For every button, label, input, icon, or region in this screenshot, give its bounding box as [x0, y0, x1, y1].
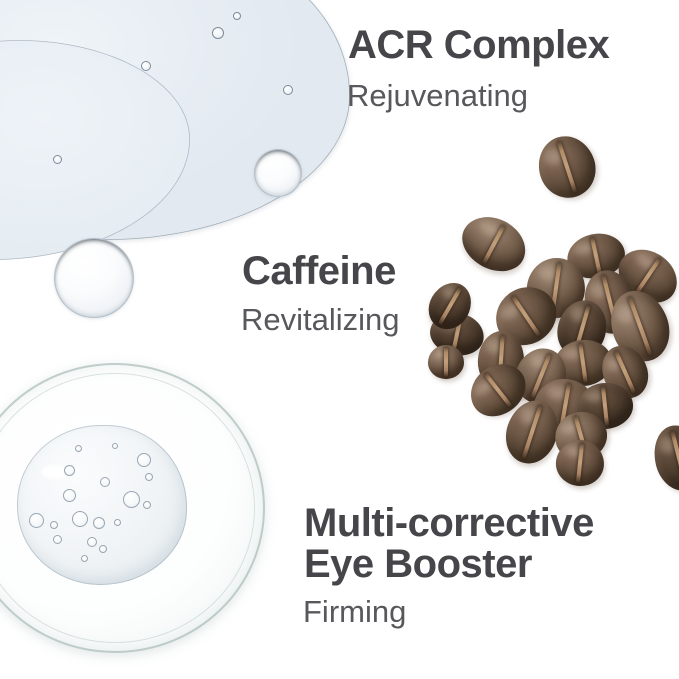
gel-bubble	[100, 477, 110, 487]
bean-crease	[601, 386, 609, 426]
serum-droplet-small	[254, 149, 302, 197]
gel-bubble	[99, 545, 107, 553]
serum-droplet-large	[54, 238, 134, 318]
gel-bubble	[29, 513, 44, 528]
gel-bubble	[143, 501, 151, 509]
gel-bubble	[123, 491, 140, 508]
ingredient-benefit-rejuvenating: Rejuvenating	[347, 80, 528, 113]
gel-highlight	[41, 465, 67, 479]
gel-bubble	[72, 511, 88, 527]
gel-bubble	[145, 473, 153, 481]
gel-bubble	[64, 465, 75, 476]
serum-bubble	[233, 12, 241, 20]
bean-crease	[590, 237, 602, 275]
gel-bubble	[63, 489, 76, 502]
coffee-bean	[648, 420, 679, 496]
ingredient-benefit-revitalizing: Revitalizing	[241, 304, 400, 337]
gel-bubble	[75, 445, 82, 452]
bean-crease	[444, 347, 448, 376]
ingredient-benefit-firming: Firming	[303, 596, 406, 629]
coffee-bean	[453, 206, 535, 281]
serum-bubble	[212, 27, 224, 39]
coffee-bean	[531, 129, 603, 205]
gel-bubble	[50, 521, 58, 529]
serum-bubble	[53, 155, 62, 164]
gel-bubble	[137, 453, 151, 467]
bean-crease	[511, 295, 541, 337]
ingredient-title-eye-booster: Multi-corrective Eye Booster	[304, 503, 594, 585]
serum-bubble	[141, 61, 151, 71]
bean-crease	[578, 343, 587, 383]
clear-gel-blob	[17, 425, 187, 585]
ingredient-title-caffeine: Caffeine	[242, 251, 396, 292]
serum-bubble	[283, 85, 293, 95]
gel-bubble	[81, 555, 88, 562]
coffee-bean	[428, 345, 464, 379]
bean-crease	[628, 296, 653, 356]
gel-bubble	[112, 443, 118, 449]
gel-bubble	[87, 537, 97, 547]
ingredient-infographic: ACR Complex Rejuvenating Caffeine Revita…	[0, 0, 679, 679]
bean-crease	[557, 141, 577, 193]
gel-bubble	[114, 519, 121, 526]
bean-crease	[670, 430, 679, 486]
glass-petri-dish	[0, 363, 265, 653]
gel-bubble	[53, 535, 62, 544]
gel-bubble	[93, 517, 105, 529]
ingredient-title-acr-complex: ACR Complex	[348, 25, 609, 66]
